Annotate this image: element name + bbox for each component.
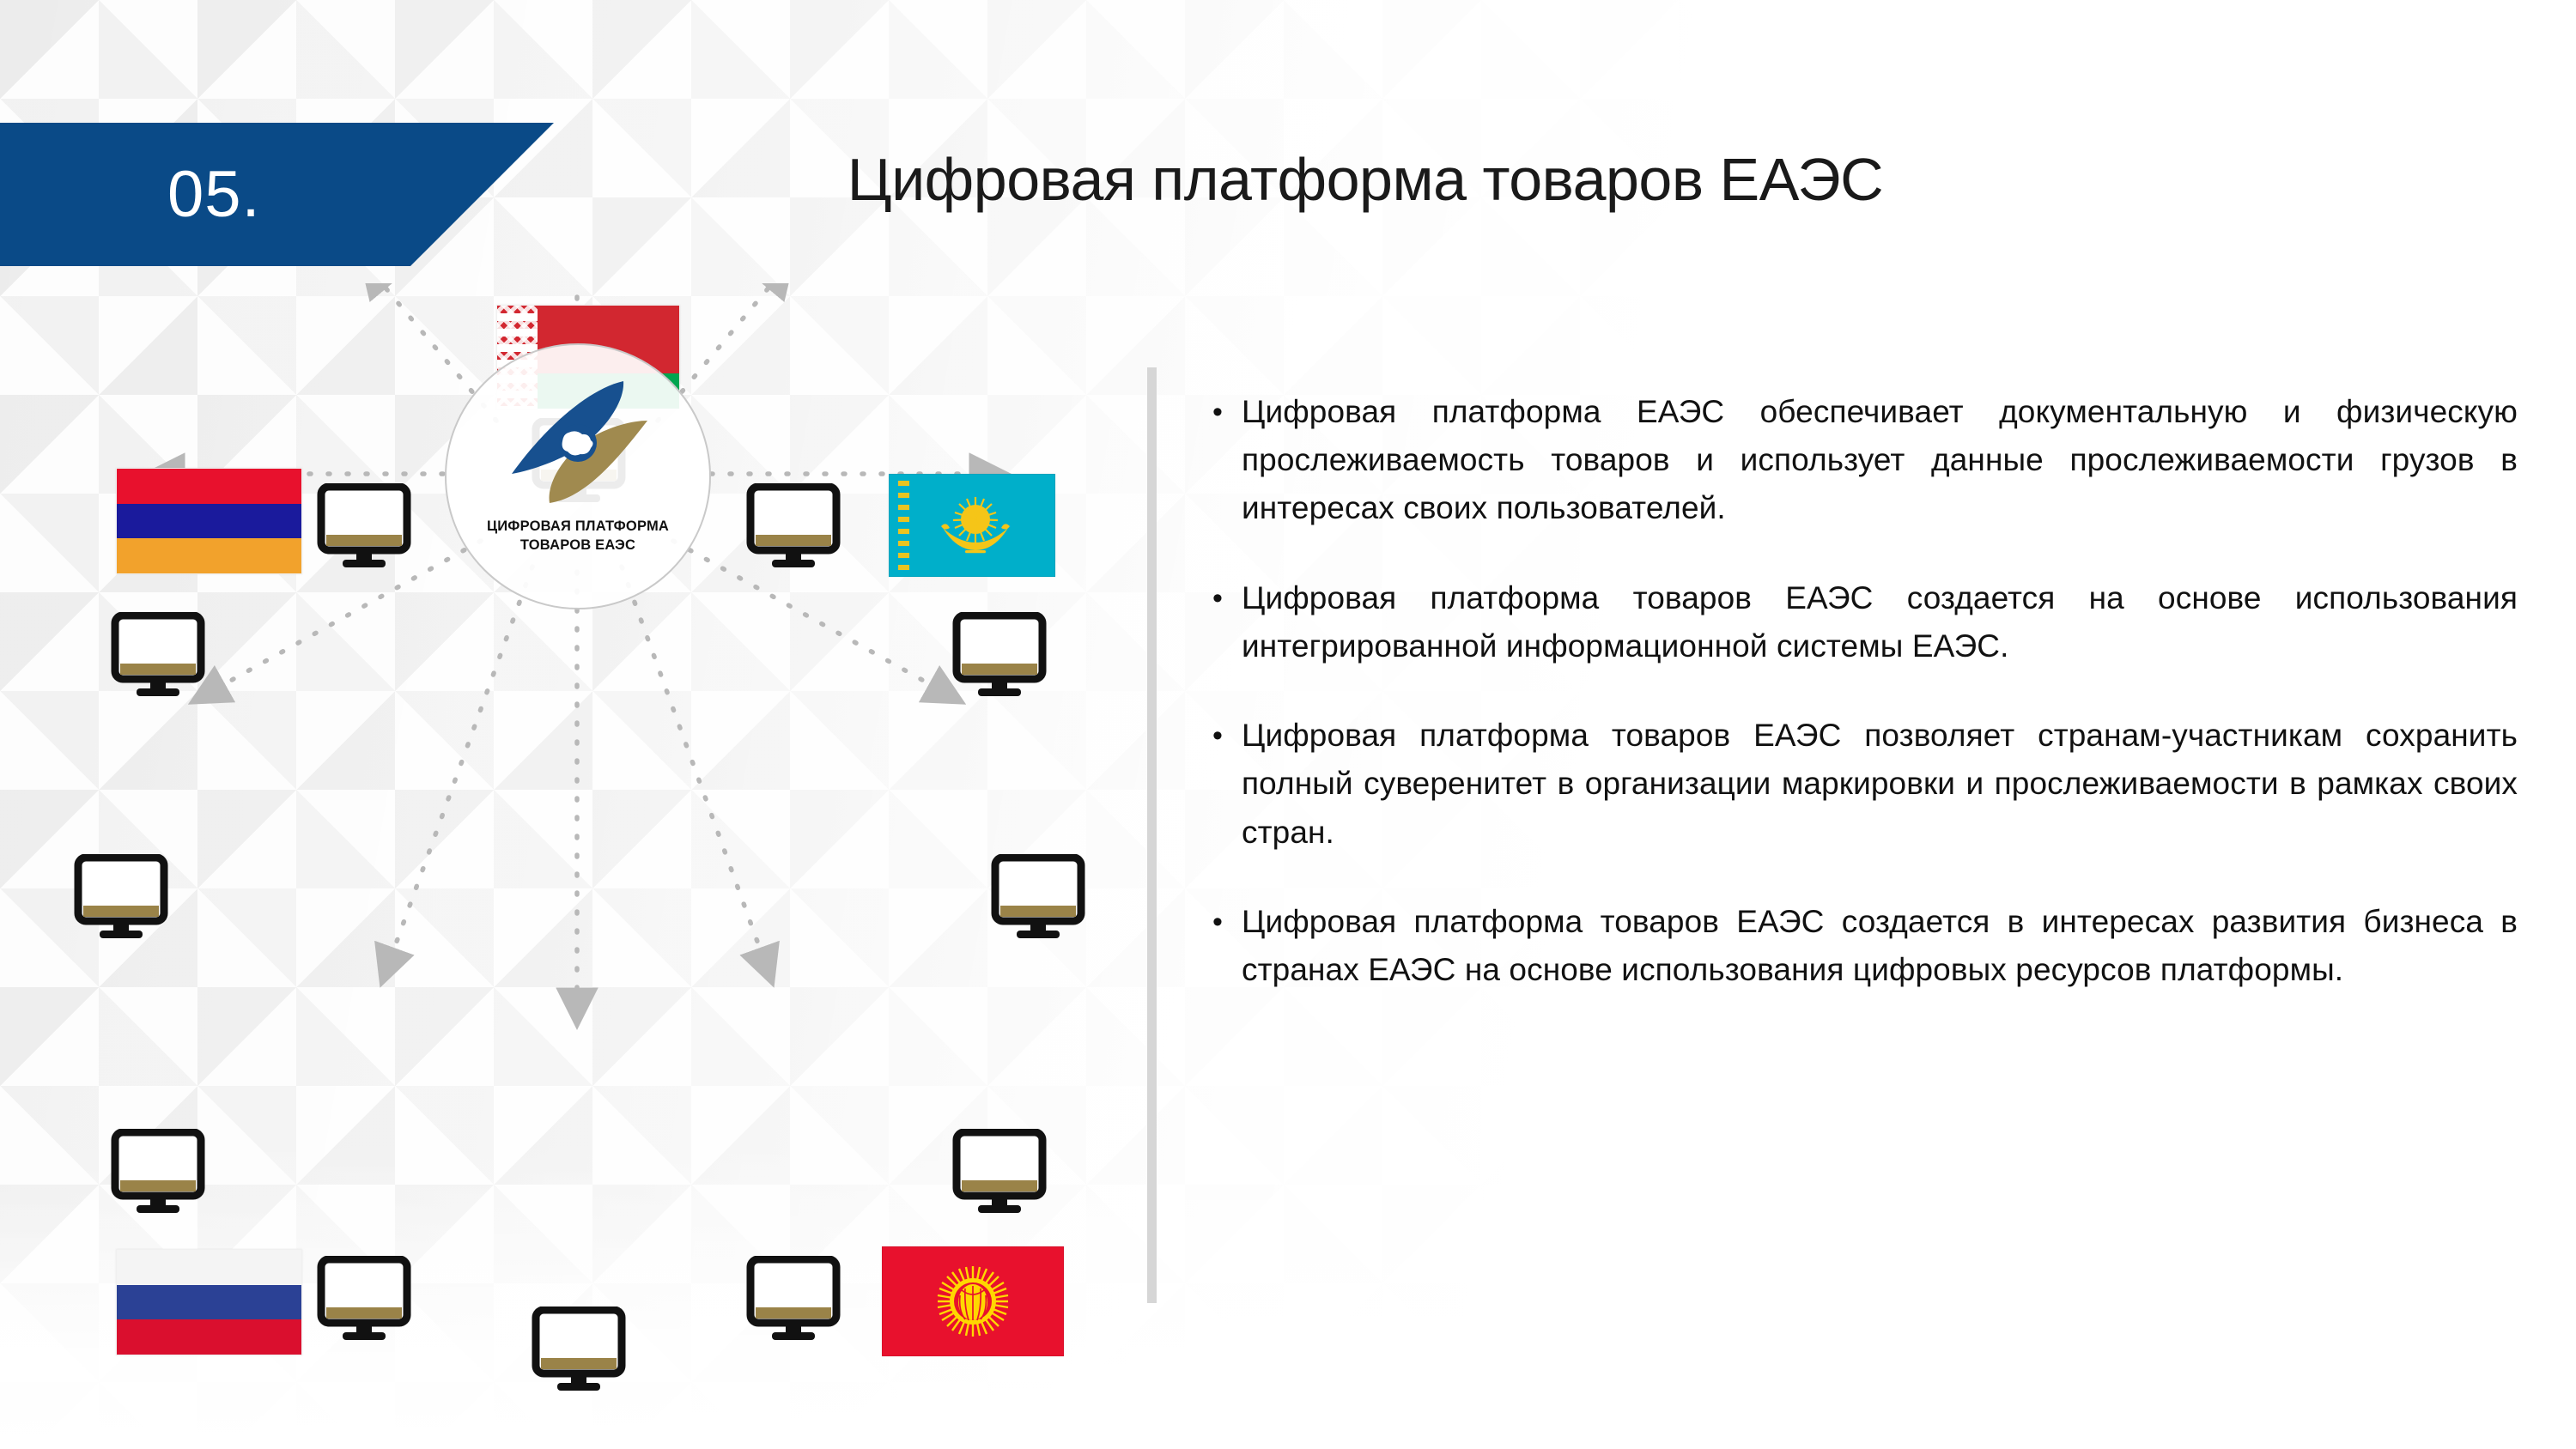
bullet-marker: • — [1212, 388, 1242, 533]
bullet-marker: • — [1212, 898, 1242, 994]
monitor-icon-glyph — [110, 1129, 206, 1218]
monitor-icon — [951, 612, 1048, 701]
russia-flag-band-red — [117, 1319, 301, 1355]
armenia-flag — [116, 468, 302, 574]
monitor-icon — [73, 854, 169, 943]
russia-flag-band-blue — [117, 1285, 301, 1320]
kazakhstan-flag-sun-eagle — [890, 475, 1054, 576]
vertical-divider — [1147, 367, 1157, 1303]
monitor-icon-glyph — [110, 612, 206, 701]
monitor-icon-glyph — [951, 1129, 1048, 1218]
kyrgyzstan-flag-sun — [883, 1247, 1063, 1355]
hub-caption-line1: ЦИФРОВАЯ ПЛАТФОРМА — [487, 517, 669, 536]
armenia-flag-band-red — [117, 469, 301, 504]
eaeu-emblem-icon — [496, 369, 659, 515]
bullet-marker: • — [1212, 574, 1242, 670]
monitor-icon-glyph — [990, 854, 1086, 943]
monitor-icon-glyph — [745, 483, 841, 573]
armenia-flag-band-blue — [117, 504, 301, 539]
monitor-icon-glyph — [745, 1256, 841, 1345]
monitor-icon-glyph — [951, 612, 1048, 701]
monitor-icon — [745, 483, 841, 573]
monitor-icon — [110, 612, 206, 701]
bullet-text: Цифровая платформа товаров ЕАЭС позволяе… — [1242, 712, 2518, 857]
monitor-icon — [745, 1256, 841, 1345]
hub-caption: ЦИФРОВАЯ ПЛАТФОРМА ТОВАРОВ ЕАЭС — [487, 517, 669, 555]
monitor-icon-glyph — [316, 483, 412, 573]
slide-root: 05. Цифровая платформа товаров ЕАЭС — [0, 0, 2576, 1449]
page-title: Цифровая платформа товаров ЕАЭС — [601, 148, 2129, 213]
central-hub: ЦИФРОВАЯ ПЛАТФОРМА ТОВАРОВ ЕАЭС — [445, 343, 711, 609]
kyrgyzstan-flag — [882, 1246, 1064, 1356]
list-item: • Цифровая платформа товаров ЕАЭС создае… — [1212, 574, 2518, 670]
bullet-marker: • — [1212, 712, 1242, 857]
monitor-icon — [990, 854, 1086, 943]
monitor-icon — [316, 1256, 412, 1345]
hub-caption-line2: ТОВАРОВ ЕАЭС — [487, 536, 669, 555]
russia-flag — [116, 1249, 302, 1355]
bullet-text: Цифровая платформа товаров ЕАЭС создаетс… — [1242, 898, 2518, 994]
network-diagram: ЦИФРОВАЯ ПЛАТФОРМА ТОВАРОВ ЕАЭС — [0, 283, 1142, 1425]
kazakhstan-flag — [889, 474, 1055, 577]
bullet-text: Цифровая платформа товаров ЕАЭС создаетс… — [1242, 574, 2518, 670]
list-item: • Цифровая платформа товаров ЕАЭС позвол… — [1212, 712, 2518, 857]
monitor-icon-glyph — [73, 854, 169, 943]
bullet-list: • Цифровая платформа ЕАЭС обеспечивает д… — [1212, 388, 2518, 1035]
monitor-icon — [316, 483, 412, 573]
monitor-icon-glyph — [531, 1307, 627, 1396]
bullet-text: Цифровая платформа ЕАЭС обеспечивает док… — [1242, 388, 2518, 533]
monitor-icon — [110, 1129, 206, 1218]
slide-number: 05. — [167, 162, 261, 227]
russia-flag-band-white — [117, 1250, 301, 1285]
armenia-flag-band-orange — [117, 538, 301, 573]
monitor-icon — [531, 1307, 627, 1396]
monitor-icon-glyph — [316, 1256, 412, 1345]
list-item: • Цифровая платформа товаров ЕАЭС создае… — [1212, 898, 2518, 994]
monitor-icon — [951, 1129, 1048, 1218]
list-item: • Цифровая платформа ЕАЭС обеспечивает д… — [1212, 388, 2518, 533]
